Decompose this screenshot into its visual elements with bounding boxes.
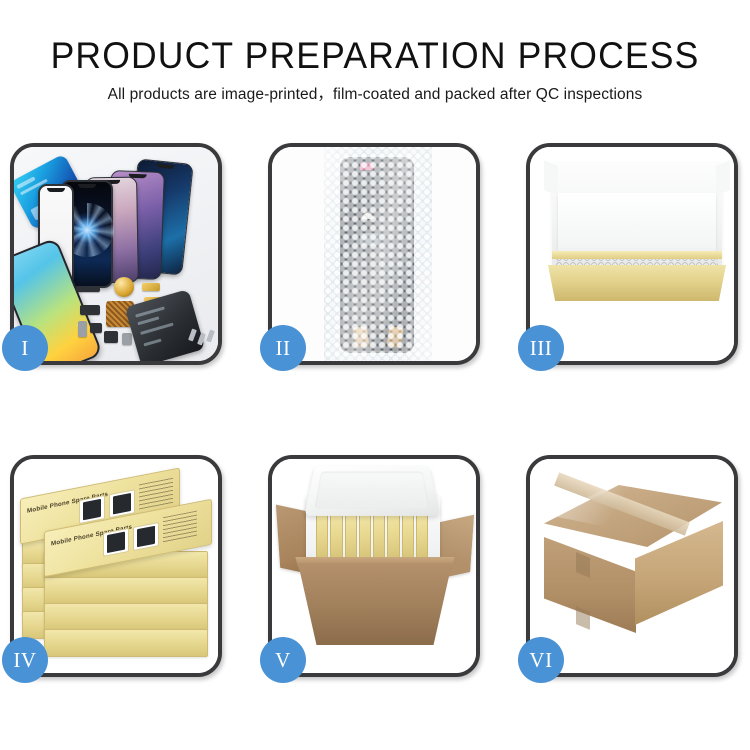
box-stack: Mobile Phone Spare Parts Mobile Phone Sp… (20, 473, 216, 663)
step-badge-3: III (518, 325, 564, 371)
step-image-sealed-shipping-carton (530, 459, 734, 673)
screws-icon (190, 329, 218, 355)
step-image-foam-lined-yellow-box (530, 147, 734, 361)
step-panel-foam-lined-yellow-box[interactable]: III (526, 143, 738, 365)
step-badge-5: V (260, 637, 306, 683)
step-badge-4: IV (2, 637, 48, 683)
plastic-sheen (324, 147, 432, 361)
step-image-foam-box-in-carton (272, 459, 476, 673)
step-image-bubble-wrapped-screen (272, 147, 476, 361)
carton-front (298, 563, 452, 645)
step-image-phone-screens-and-parts (14, 147, 218, 361)
page-header: PRODUCT PREPARATION PROCESS All products… (0, 0, 750, 105)
step-panel-sealed-shipping-carton[interactable]: VI (526, 455, 738, 677)
step-badge-2: II (260, 325, 306, 371)
yellow-tray-wall (548, 265, 726, 301)
page-subtitle: All products are image-printed，film-coat… (0, 85, 750, 105)
speaker-mesh-icon (114, 277, 134, 297)
step-panel-foam-box-in-carton[interactable]: V (268, 455, 480, 677)
foam-box-lid (304, 466, 439, 516)
step-panel-phone-screens-and-parts[interactable]: I (10, 143, 222, 365)
bubble-wrap-bag (324, 147, 432, 361)
product-preparation-page: PRODUCT PREPARATION PROCESS All products… (0, 0, 750, 750)
process-steps-grid: I (10, 143, 740, 683)
step-badge-1: I (2, 325, 48, 371)
tray-rim (552, 251, 722, 259)
step-image-stacked-retail-boxes: Mobile Phone Spare Parts Mobile Phone Sp… (14, 459, 218, 673)
step-badge-6: VI (518, 637, 564, 683)
step-panel-stacked-retail-boxes[interactable]: Mobile Phone Spare Parts Mobile Phone Sp… (10, 455, 222, 677)
page-title: PRODUCT PREPARATION PROCESS (15, 36, 735, 76)
yellow-boxes-inside (316, 515, 428, 563)
step-panel-bubble-wrapped-screen[interactable]: II (268, 143, 480, 365)
